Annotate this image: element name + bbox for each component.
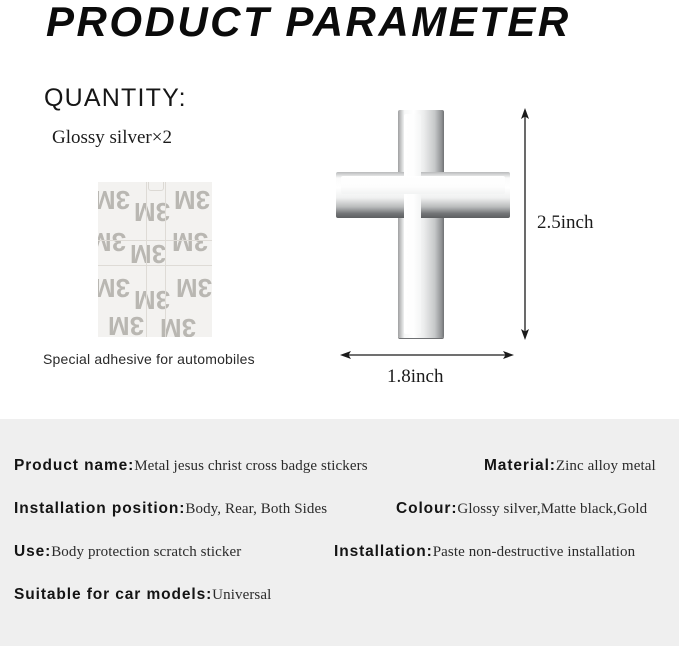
spec-label: Material bbox=[484, 457, 550, 474]
dimension-arrow-horizontal bbox=[340, 347, 514, 363]
sheet-brand-text: 3M bbox=[98, 184, 130, 215]
spec-row-use: Use:Body protection scratch sticker bbox=[14, 544, 241, 560]
spec-label: Suitable for car models bbox=[14, 586, 206, 603]
cross-vertical-highlight bbox=[404, 114, 421, 334]
spec-row-material: Material:Zinc alloy metal bbox=[484, 458, 656, 474]
dimension-label-width: 1.8inch bbox=[387, 366, 443, 388]
spec-row-installation: Installation:Paste non-destructive insta… bbox=[334, 544, 635, 560]
spec-label: Installation bbox=[334, 543, 427, 560]
spec-row-installation-position: Installation position:Body, Rear, Both S… bbox=[14, 501, 327, 517]
adhesive-sheet-image: 3M 3M 3M 3M 3M 3M 3M 3M 3M 3M 3M bbox=[98, 182, 212, 337]
cross-emblem-image bbox=[336, 110, 510, 338]
die-cut-tab bbox=[148, 182, 164, 191]
adhesive-caption: Special adhesive for automobiles bbox=[43, 351, 255, 367]
quantity-heading: QUANTITY: bbox=[44, 84, 187, 113]
page-title: PRODUCT PARAMETER bbox=[46, 0, 571, 46]
spec-row-colour: Colour:Glossy silver,Matte black,Gold bbox=[396, 501, 647, 517]
spec-label: Colour bbox=[396, 500, 451, 517]
quantity-value: Glossy silver×2 bbox=[52, 127, 172, 149]
spec-value: Paste non-destructive installation bbox=[433, 544, 636, 560]
product-parameter-infographic: PRODUCT PARAMETER QUANTITY: Glossy silve… bbox=[0, 0, 679, 646]
cross-horizontal-highlight bbox=[341, 176, 505, 194]
spec-row-product-name: Product name:Metal jesus christ cross ba… bbox=[14, 458, 368, 474]
sheet-brand-text: 3M bbox=[98, 272, 130, 303]
spec-value: Body protection scratch sticker bbox=[51, 544, 241, 560]
spec-value: Body, Rear, Both Sides bbox=[185, 501, 327, 517]
sheet-brand-text: 3M bbox=[108, 310, 144, 337]
dimension-arrow-vertical bbox=[517, 108, 533, 340]
die-cut-outline-horizontal bbox=[98, 240, 212, 266]
spec-value: Universal bbox=[212, 587, 271, 603]
spec-label: Installation position bbox=[14, 500, 179, 517]
sheet-brand-text: 3M bbox=[176, 272, 212, 303]
specification-band bbox=[0, 419, 679, 646]
spec-value: Glossy silver,Matte black,Gold bbox=[457, 501, 647, 517]
spec-value: Zinc alloy metal bbox=[556, 458, 656, 474]
spec-label: Use bbox=[14, 543, 45, 560]
spec-label: Product name bbox=[14, 457, 128, 474]
dimension-label-height: 2.5inch bbox=[537, 212, 593, 234]
sheet-brand-text: 3M bbox=[174, 184, 210, 215]
spec-row-suitable-car-models: Suitable for car models:Universal bbox=[14, 587, 271, 603]
spec-value: Metal jesus christ cross badge stickers bbox=[134, 458, 367, 474]
